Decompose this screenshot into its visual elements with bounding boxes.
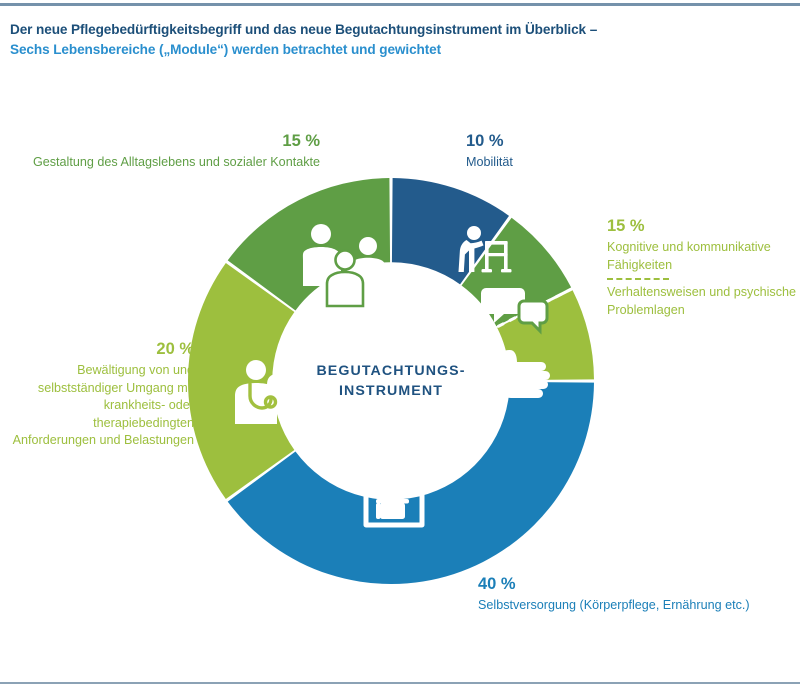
top-rule bbox=[0, 3, 800, 6]
label-gestaltung-alltagsleben: 15 % Gestaltung des Alltagslebens und so… bbox=[30, 130, 320, 172]
title-line-1: Der neue Pflegebedürftigkeitsbegriff und… bbox=[10, 20, 790, 40]
label-percent: 20 % bbox=[8, 338, 194, 361]
dashed-divider bbox=[607, 278, 669, 280]
bottom-rule bbox=[0, 682, 800, 684]
donut-chart: BEGUTACHTUNGS-INSTRUMENT bbox=[188, 178, 594, 584]
label-text: Mobilität bbox=[466, 154, 696, 172]
title-line-2: Sechs Lebensbereiche („Module“) werden b… bbox=[10, 40, 790, 60]
label-text: Gestaltung des Alltagslebens und soziale… bbox=[30, 154, 320, 172]
donut-svg bbox=[188, 178, 594, 584]
label-percent: 15 % bbox=[607, 215, 797, 238]
infographic-page: Der neue Pflegebedürftigkeitsbegriff und… bbox=[0, 0, 800, 691]
page-title: Der neue Pflegebedürftigkeitsbegriff und… bbox=[10, 20, 790, 60]
label-mobilitaet: 10 % Mobilität bbox=[466, 130, 696, 172]
label-text-kognitive: Kognitive und kommunikative Fähigkeiten bbox=[607, 239, 797, 274]
label-text-verhaltensweisen: Verhaltensweisen und psychische Probleml… bbox=[607, 284, 797, 319]
label-kognitive-faehigkeiten: 15 % Kognitive und kommunikative Fähigke… bbox=[607, 215, 797, 319]
label-bewaeltigung: 20 % Bewältigung von und selbstständiger… bbox=[8, 338, 194, 450]
label-percent: 15 % bbox=[30, 130, 320, 153]
label-text: Selbstversorgung (Körperpflege, Ernährun… bbox=[478, 597, 788, 615]
label-percent: 10 % bbox=[466, 130, 696, 153]
label-text: Bewältigung von und selbstständiger Umga… bbox=[8, 362, 194, 450]
